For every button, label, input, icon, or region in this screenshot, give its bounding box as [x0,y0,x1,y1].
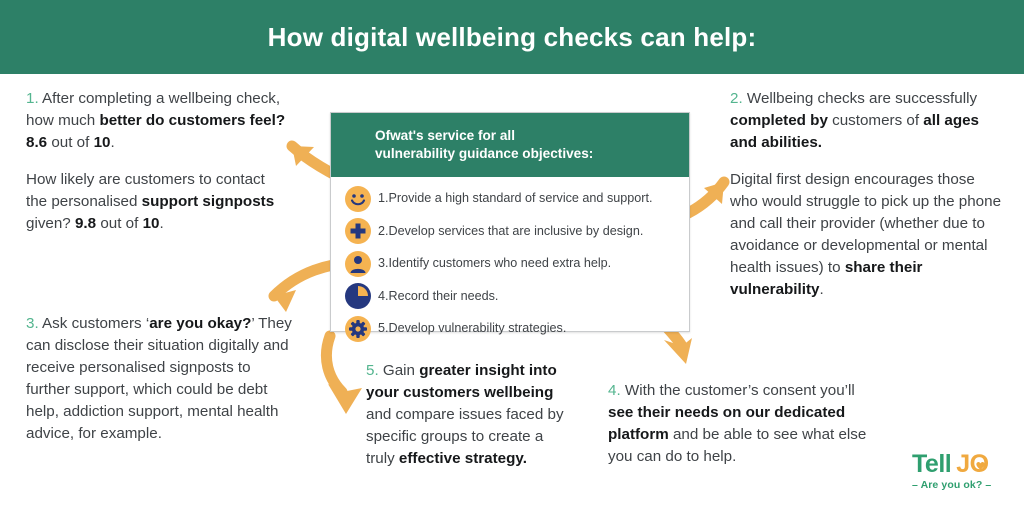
block4-p1-a: With the customer’s consent you’ll [621,382,855,399]
card-title-line2: vulnerability guidance objectives: [375,145,673,163]
block3-paragraph-1: 3. Ask customers ‘are you okay?’ They ca… [26,313,294,445]
block1-p2-g: . [159,215,163,232]
list-item-label: Provide a high standard of service and s… [389,191,653,205]
list-item-text: 5.Develop vulnerability strategies. [378,321,566,336]
heart-icon [975,460,986,471]
block1-p2-f: 10 [143,215,160,232]
text-block-2: 2. Wellbeing checks are successfully com… [730,88,1002,301]
block1-p2-b: support signposts [142,193,274,210]
block2-p1-a: Wellbeing checks are successfully [743,90,977,107]
block5-paragraph-1: 5. Gain greater insight into your custom… [366,360,566,470]
list-item: 5.Develop vulnerability strategies. [345,316,679,342]
list-item-number: 4. [378,289,389,303]
block5-number: 5. [366,362,379,379]
text-block-4: 4. With the customer’s consent you’ll se… [608,380,870,468]
text-block-5: 5. Gain greater insight into your custom… [366,360,566,470]
smiley-face-icon [345,186,371,212]
list-item: 1.Provide a high standard of service and… [345,186,679,212]
block4-paragraph-1: 4. With the customer’s consent you’ll se… [608,380,870,468]
block5-p1-d: effective strategy. [399,450,527,467]
tell-jo-logo: Tell JO – Are you ok? – [912,452,1012,500]
card-objectives-list: 1.Provide a high standard of service and… [331,177,689,348]
block2-p2-c: . [819,281,823,298]
list-item-text: 2.Develop services that are inclusive by… [378,224,643,239]
block1-number: 1. [26,90,39,107]
card-title-line1: Ofwat's service for all [375,127,673,145]
list-item: 2.Develop services that are inclusive by… [345,218,679,244]
block5-p1-a: Gain [379,362,420,379]
list-item-label: Develop services that are inclusive by d… [389,224,644,238]
gear-icon [345,316,371,342]
block1-p2-e: out of [96,215,142,232]
block2-paragraph-1: 2. Wellbeing checks are successfully com… [730,88,1002,154]
block2-paragraph-2: Digital first design encourages those wh… [730,169,1002,301]
block1-paragraph-1: 1. After completing a wellbeing check, h… [26,88,288,154]
block3-p1-a: Ask customers ‘ [39,315,150,332]
page-title: How digital wellbeing checks can help: [268,22,757,53]
block1-p1-d: 10 [94,134,111,151]
block1-p2-d: 9.8 [75,215,96,232]
logo-text-tell: Tell [912,452,951,477]
list-item: 4.Record their needs. [345,283,679,309]
block1-p1-e: . [110,134,114,151]
logo-tagline: – Are you ok? – [912,479,1012,491]
list-item-label: Develop vulnerability strategies. [389,321,567,335]
list-item-number: 5. [378,321,389,335]
person-icon [345,251,371,277]
block3-number: 3. [26,315,39,332]
block4-number: 4. [608,382,621,399]
block3-p1-c: ’ They can disclose their situation digi… [26,315,292,442]
block1-p1-c: out of [47,134,93,151]
text-block-1: 1. After completing a wellbeing check, h… [26,88,288,235]
block3-p1-b: are you okay? [149,315,251,332]
block2-p1-b: completed by [730,112,828,129]
block1-paragraph-2: How likely are customers to contact the … [26,169,288,235]
text-block-3: 3. Ask customers ‘are you okay?’ They ca… [26,313,294,445]
list-item: 3.Identify customers who need extra help… [345,251,679,277]
logo-wordmark: Tell JO [912,452,1012,477]
block2-p1-c: customers of [828,112,923,129]
list-item-text: 1.Provide a high standard of service and… [378,191,652,206]
list-item-number: 1. [378,191,389,205]
header-banner: How digital wellbeing checks can help: [0,0,1024,74]
list-item-label: Record their needs. [389,289,499,303]
list-item-text: 3.Identify customers who need extra help… [378,256,611,271]
list-item-number: 2. [378,224,389,238]
infographic-canvas: How digital wellbeing checks can help: 1… [0,0,1024,512]
card-header: Ofwat's service for all vulnerability gu… [331,113,689,177]
list-item-number: 3. [378,256,389,270]
medical-cross-icon [345,218,371,244]
block1-p2-c: given? [26,215,75,232]
ofwat-objectives-card: Ofwat's service for all vulnerability gu… [330,112,690,332]
block2-number: 2. [730,90,743,107]
list-item-text: 4.Record their needs. [378,289,498,304]
pie-chart-icon [345,283,371,309]
list-item-label: Identify customers who need extra help. [389,256,612,270]
